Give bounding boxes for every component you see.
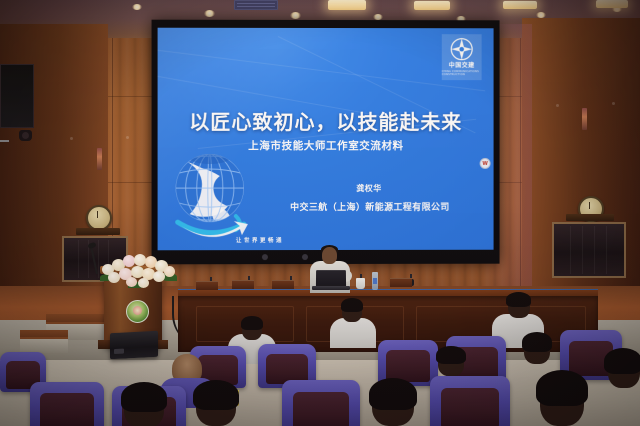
globe-graphic-icon bbox=[166, 146, 258, 246]
audience-seat bbox=[30, 382, 104, 426]
tea-cup-icon bbox=[356, 278, 365, 289]
flower bbox=[153, 271, 165, 282]
compass-star-icon bbox=[450, 38, 474, 62]
audience-hair bbox=[241, 316, 263, 330]
door-handle bbox=[0, 140, 9, 142]
bezel-dot bbox=[302, 254, 308, 260]
flower-arrangement bbox=[98, 252, 178, 288]
audience-hair bbox=[121, 382, 167, 412]
table-nameplate bbox=[390, 278, 412, 287]
slide-title: 以匠心致初心，以技能赴未来 bbox=[158, 106, 494, 135]
slide-presenter-name: 龚权华 bbox=[274, 183, 464, 194]
flower bbox=[126, 277, 137, 287]
clock-shelf bbox=[566, 214, 614, 221]
logo-chinese-name: 中国交建 bbox=[449, 64, 475, 70]
seat-cushion bbox=[293, 392, 349, 426]
logo-english-name: CHINA COMMUNICATIONS CONSTRUCTION bbox=[442, 72, 482, 77]
flower bbox=[164, 266, 175, 277]
slide-slogan: 让世界更畅通 bbox=[236, 236, 284, 244]
wall-peg bbox=[126, 136, 129, 139]
audience-hair bbox=[506, 292, 531, 307]
wall-monitor bbox=[0, 64, 34, 128]
audience-hair bbox=[369, 378, 417, 410]
stage-floor-speaker bbox=[110, 331, 158, 360]
flower bbox=[138, 278, 149, 288]
table-nameplate bbox=[232, 280, 254, 289]
audience-hair bbox=[341, 298, 363, 312]
camera-icon bbox=[19, 130, 32, 141]
watermark-badge-icon: W bbox=[480, 158, 491, 169]
ccc-logo: 中国交建 CHINA COMMUNICATIONS CONSTRUCTION bbox=[442, 34, 482, 80]
stage-step-riser bbox=[20, 337, 68, 353]
table-nameplate bbox=[196, 281, 218, 290]
audience-hair bbox=[436, 346, 466, 364]
conference-hall-photo: 中国交建 CHINA COMMUNICATIONS CONSTRUCTION bbox=[0, 0, 640, 426]
slide-subtitle: 上海市技能大师工作室交流材料 bbox=[158, 138, 494, 153]
audience-hair bbox=[536, 370, 588, 406]
speaker-grille bbox=[552, 222, 626, 278]
audience-hair bbox=[193, 380, 239, 410]
wall-peg bbox=[70, 137, 73, 140]
audience-seat bbox=[430, 376, 510, 426]
audience-person bbox=[330, 318, 376, 348]
bezel-dot bbox=[262, 254, 268, 260]
clock-shelf bbox=[76, 228, 120, 235]
podium-emblem-icon bbox=[126, 300, 149, 323]
speaker-head bbox=[322, 247, 337, 264]
seat-cushion bbox=[441, 388, 499, 426]
seat-cushion bbox=[40, 393, 93, 426]
audience-hair bbox=[604, 348, 640, 374]
audience-seat bbox=[282, 380, 360, 426]
water-bottle-icon bbox=[372, 272, 378, 290]
projection-screen: 中国交建 CHINA COMMUNICATIONS CONSTRUCTION bbox=[152, 20, 500, 265]
wall-peg bbox=[556, 104, 559, 107]
laptop-base bbox=[312, 286, 350, 290]
wall-ornament-icon bbox=[582, 108, 587, 130]
table-nameplate bbox=[272, 280, 294, 289]
slide-company-name: 中交三航（上海）新能源工程有限公司 bbox=[260, 200, 480, 213]
wall-peg bbox=[612, 102, 615, 105]
presentation-slide: 中国交建 CHINA COMMUNICATIONS CONSTRUCTION bbox=[158, 28, 494, 251]
audience-hair bbox=[522, 332, 552, 352]
wall-ornament-icon bbox=[97, 148, 102, 170]
